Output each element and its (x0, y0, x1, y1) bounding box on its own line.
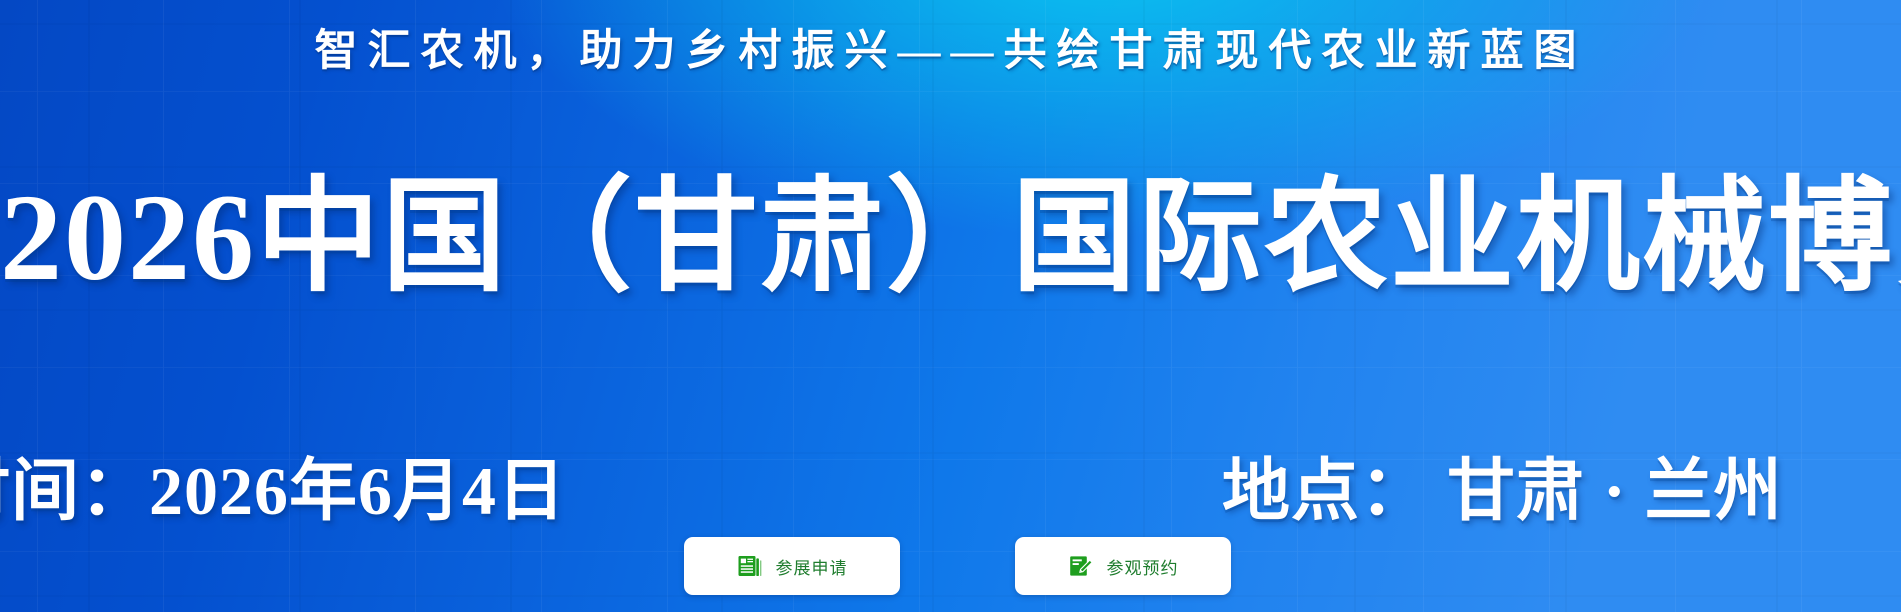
event-location: 地点： 甘肃 · 兰州 (1222, 448, 1783, 534)
page-title: 2026中国（甘肃）国际农业机械博览会 (0, 168, 1901, 308)
visit-reservation-label: 参观预约 (1107, 554, 1179, 579)
exhibit-application-label: 参展申请 (776, 554, 848, 579)
event-date: 时间：2026年6月4日 (0, 448, 566, 534)
expo-banner: 智汇农机，助力乡村振兴——共绘甘肃现代农业新蓝图 2026中国（甘肃）国际农业机… (0, 0, 1901, 612)
visit-reservation-button[interactable]: 参观预约 (1015, 537, 1231, 595)
exhibit-application-button[interactable]: 参展申请 (684, 537, 900, 595)
cta-button-bar: 参展申请 参观预约 (0, 537, 1901, 597)
newspaper-icon (737, 553, 763, 579)
banner-subtitle: 智汇农机，助力乡村振兴——共绘甘肃现代农业新蓝图 (315, 26, 1587, 78)
form-pencil-icon (1068, 553, 1094, 579)
title-row: 2026中国（甘肃）国际农业机械博览会 (0, 168, 1901, 308)
subtitle-row: 智汇农机，助力乡村振兴——共绘甘肃现代农业新蓝图 (0, 26, 1901, 78)
